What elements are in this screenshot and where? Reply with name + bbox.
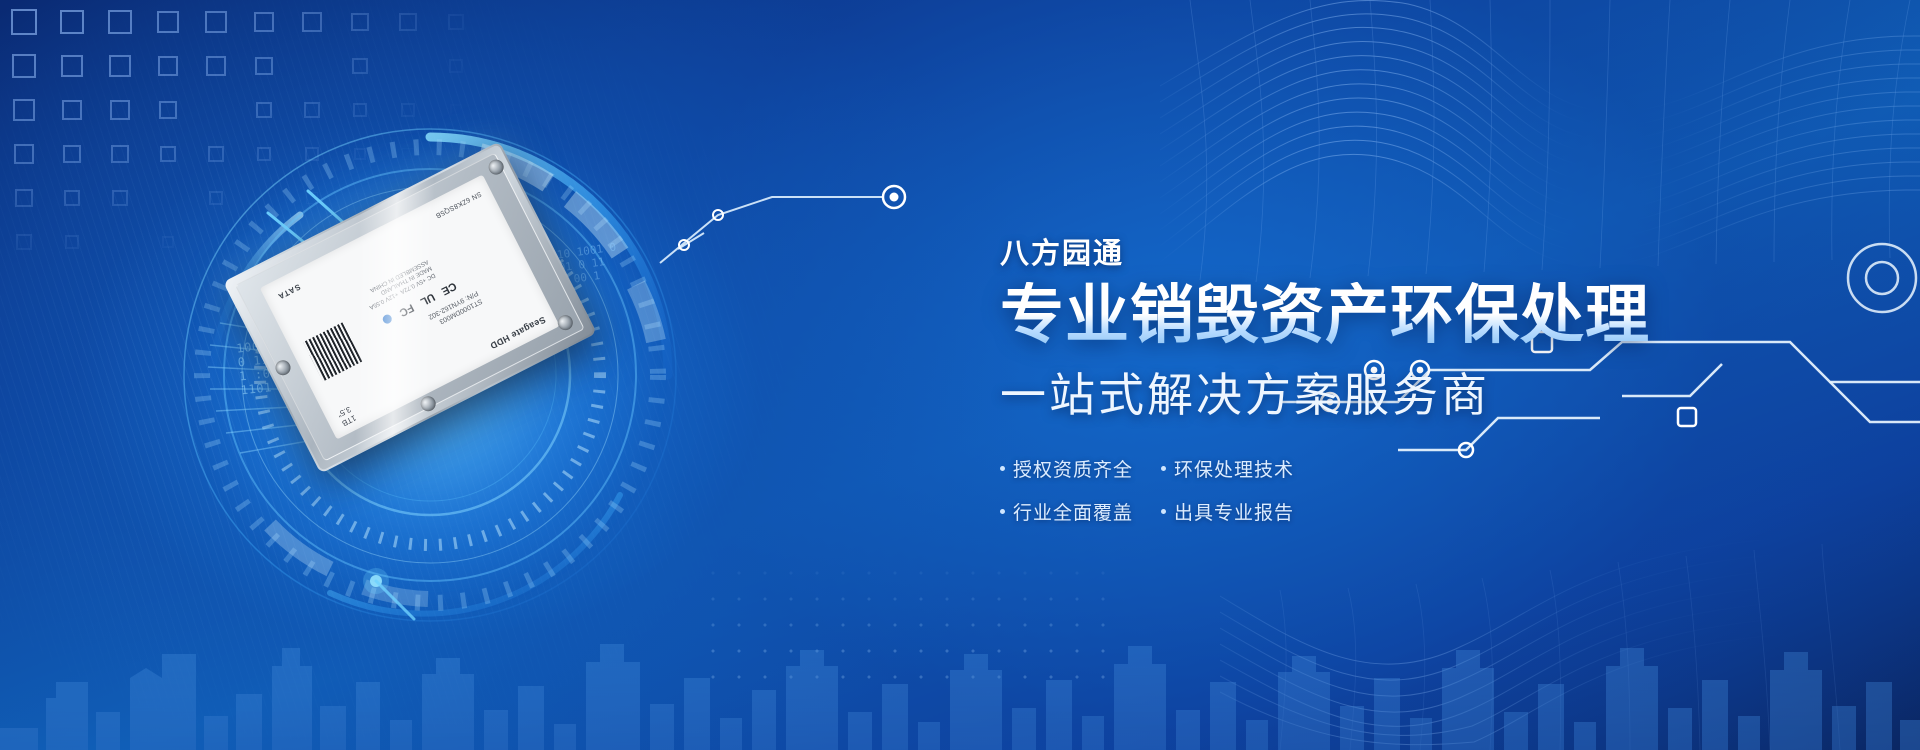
page-subtitle: 一站式解决方案服务商 <box>1000 359 1720 425</box>
feature-label: 行业全面覆盖 <box>1013 498 1133 525</box>
feature-label: 环保处理技术 <box>1174 455 1294 482</box>
bullet-dot-icon <box>1161 466 1166 471</box>
bullet-dot-icon <box>1161 509 1166 514</box>
city-skyline-decoration <box>0 620 1920 750</box>
feature-item-2: 行业全面覆盖 <box>1000 498 1133 525</box>
feature-label: 授权资质齐全 <box>1013 455 1133 482</box>
hero-copy: 八方园通 专业销毁资产环保处理 一站式解决方案服务商 授权资质齐全 环保处理技术… <box>1000 230 1720 525</box>
bullet-dot-icon <box>1000 509 1005 514</box>
page-title: 专业销毁资产环保处理 <box>1000 282 1720 349</box>
feature-item-1: 环保处理技术 <box>1161 455 1294 482</box>
bullet-dot-icon <box>1000 466 1005 471</box>
feature-label: 出具专业报告 <box>1174 498 1294 525</box>
connector-line-decoration <box>660 175 920 265</box>
feature-item-3: 出具专业报告 <box>1161 498 1294 525</box>
brand-name: 八方园通 <box>1000 230 1720 272</box>
hero-banner: 1001 0010 1001 100 0 11 : 1011 001 11 1 … <box>0 0 1920 750</box>
feature-item-0: 授权资质齐全 <box>1000 455 1133 482</box>
feature-list: 授权资质齐全 环保处理技术 行业全面覆盖 出具专业报告 <box>1000 455 1294 525</box>
